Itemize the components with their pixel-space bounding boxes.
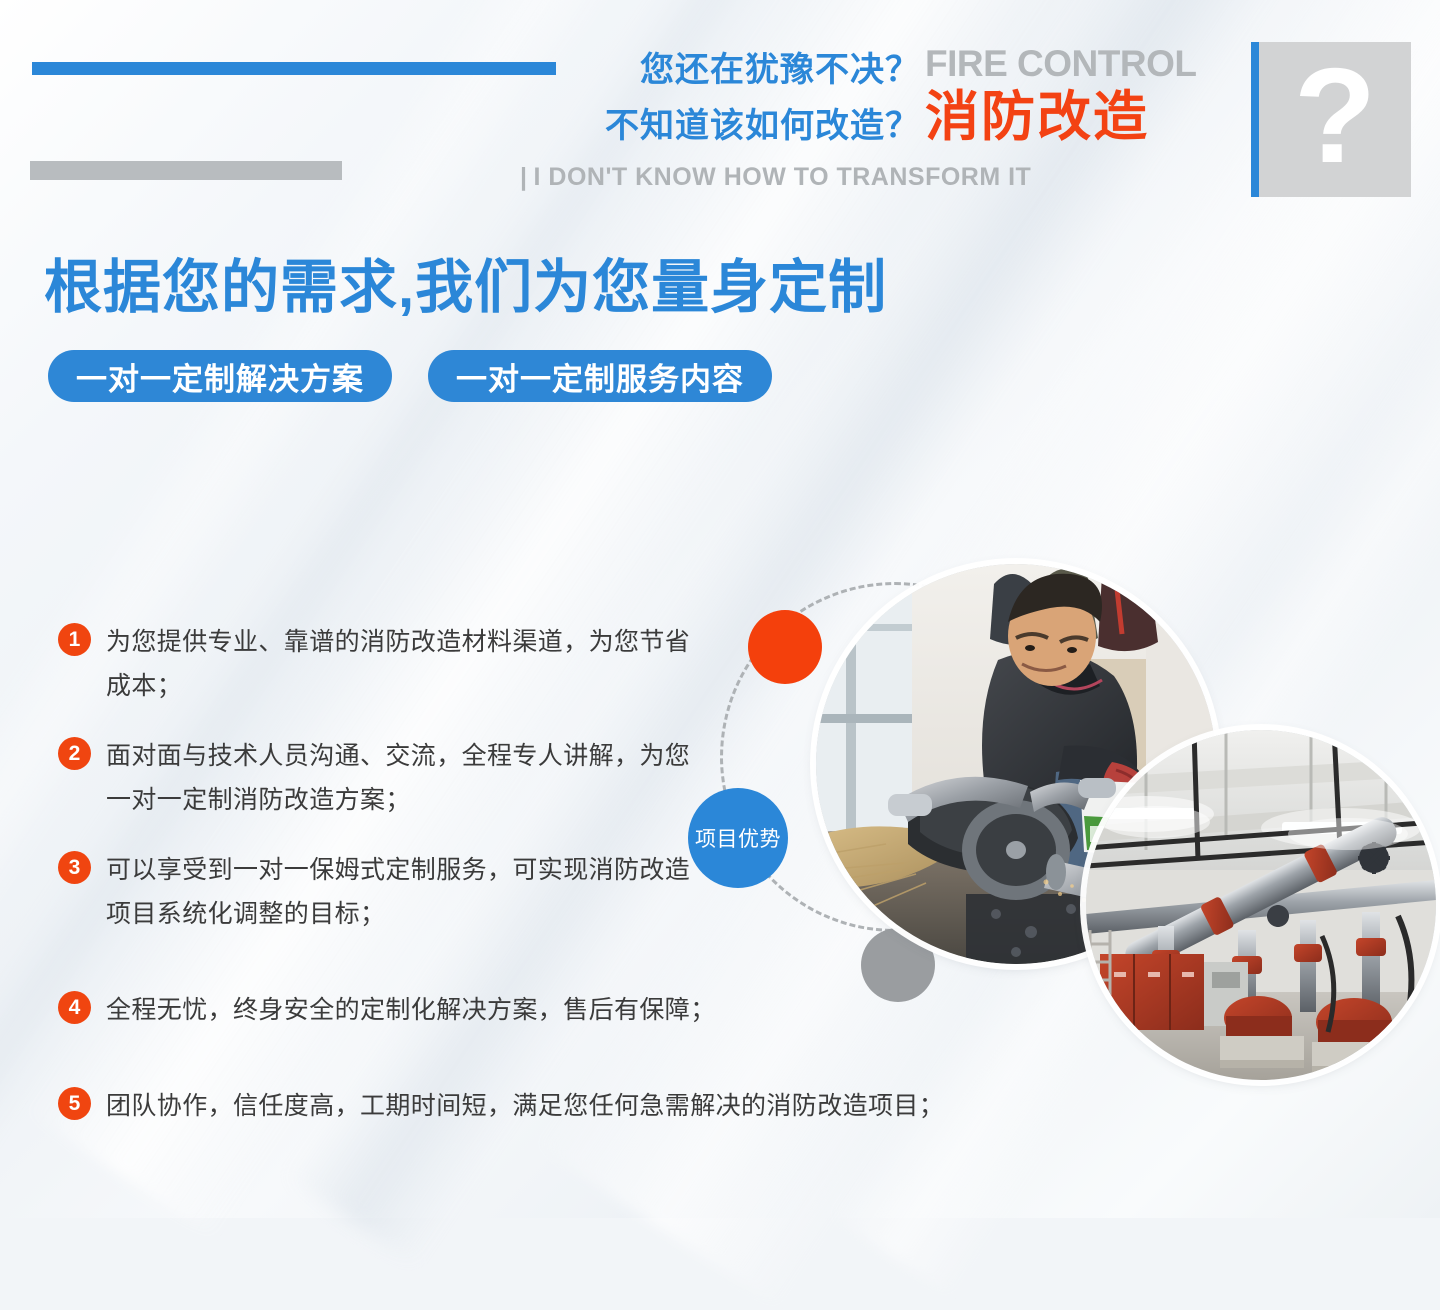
pill-custom-solution[interactable]: 一对一定制解决方案	[48, 350, 392, 402]
header-banner: 您还在犹豫不决？ 不知道该如何改造？ |I DON'T KNOW HOW TO …	[0, 0, 1440, 218]
list-item: 3 可以享受到一对一保姆式定制服务，可实现消防改造项目系统化调整的目标；	[58, 848, 698, 936]
brand-chinese-title: 消防改造	[925, 86, 1235, 148]
feature-text: 全程无忧，终身安全的定制化解决方案，售后有保障；	[106, 988, 716, 1032]
blue-rule-bar	[32, 62, 556, 75]
feature-number-badge: 4	[58, 991, 91, 1024]
feature-list: 1 为您提供专业、靠谱的消防改造材料渠道，为您节省成本； 2 面对面与技术人员沟…	[58, 620, 698, 1154]
pill-row: 一对一定制解决方案 一对一定制服务内容	[48, 350, 772, 402]
feature-text: 为您提供专业、靠谱的消防改造材料渠道，为您节省成本；	[106, 620, 698, 708]
photo-pump-room-circle	[1086, 730, 1436, 1080]
feature-number-badge: 3	[58, 851, 91, 884]
feature-text: 可以享受到一对一保姆式定制服务，可实现消防改造项目系统化调整的目标；	[106, 848, 698, 936]
brand-block: FIRE CONTROL 消防改造	[925, 42, 1235, 148]
advantage-badge: 项目优势	[688, 788, 788, 888]
orange-dot-marker	[748, 610, 822, 684]
advantage-badge-label: 项目优势	[695, 823, 781, 853]
header-question-line1: 您还在犹豫不决？	[520, 42, 920, 98]
feature-number-badge: 5	[58, 1087, 91, 1120]
list-item: 1 为您提供专业、靠谱的消防改造材料渠道，为您节省成本；	[58, 620, 698, 708]
header-english-divider-bar: |	[520, 163, 528, 191]
question-mark-box: ?	[1251, 42, 1411, 197]
feature-number-badge: 2	[58, 737, 91, 770]
header-question-block: 您还在犹豫不决？ 不知道该如何改造？ |I DON'T KNOW HOW TO …	[520, 38, 920, 198]
header-english-text: I DON'T KNOW HOW TO TRANSFORM IT	[534, 163, 1032, 191]
page-title: 根据您的需求,我们为您量身定制	[44, 252, 887, 324]
gray-rule-bar	[30, 161, 342, 180]
feature-text: 面对面与技术人员沟通、交流，全程专人讲解，为您一对一定制消防改造方案；	[106, 734, 698, 822]
pill-custom-service[interactable]: 一对一定制服务内容	[428, 350, 772, 402]
question-mark-icon: ?	[1294, 48, 1376, 183]
list-item: 2 面对面与技术人员沟通、交流，全程专人讲解，为您一对一定制消防改造方案；	[58, 734, 698, 822]
feature-number-badge: 1	[58, 623, 91, 656]
advantage-circle-cluster: 项目优势	[690, 540, 1440, 1100]
header-english-subtitle: |I DON'T KNOW HOW TO TRANSFORM IT	[520, 160, 920, 194]
header-question-line2: 不知道该如何改造？	[520, 98, 920, 154]
brand-english-title: FIRE CONTROL	[925, 42, 1235, 86]
